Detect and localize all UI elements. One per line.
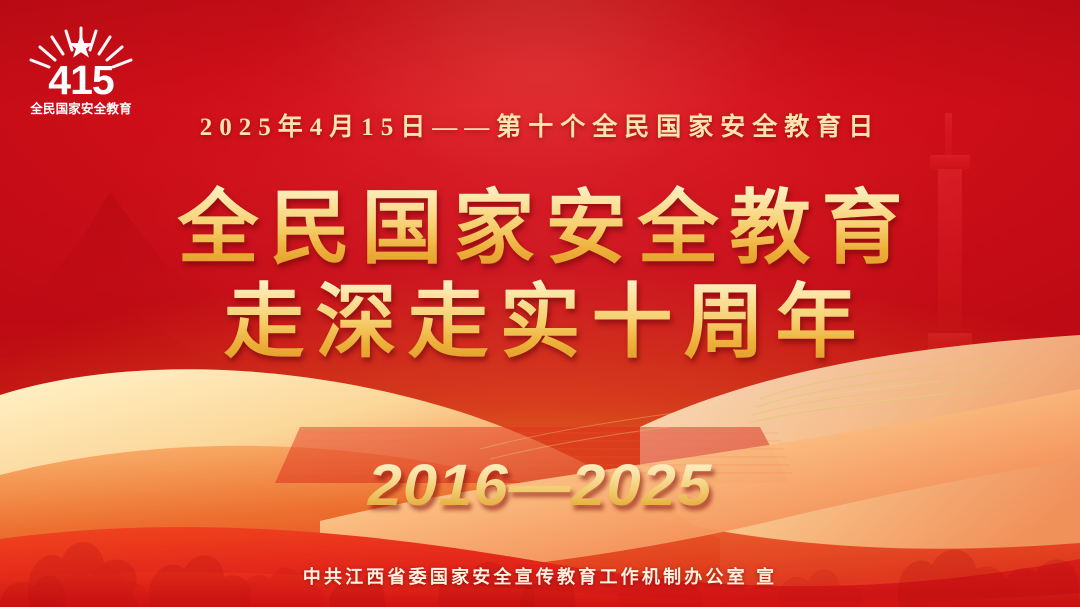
- anniversary-years: 2016—2025: [0, 452, 1080, 519]
- poster-subtitle: 2025年4月15日——第十个全民国家安全教育日: [0, 107, 1080, 143]
- svg-text:415: 415: [48, 57, 114, 103]
- poster-headline: 全民国家安全教育 走深走实十周年: [0, 182, 1080, 370]
- poster-footer-credit: 中共江西省委国家安全宣传教育工作机制办公室 宣: [0, 563, 1080, 589]
- security-education-day-poster: 415 全民国家安全教育 2025年4月15日——第十个全民国家安全教育日 全民…: [0, 0, 1080, 607]
- 415-starburst-logo-icon: 415 全民国家安全教育: [18, 22, 144, 120]
- headline-line-1: 全民国家安全教育: [0, 182, 1080, 276]
- headline-line-2: 走深走实十周年: [0, 276, 1080, 370]
